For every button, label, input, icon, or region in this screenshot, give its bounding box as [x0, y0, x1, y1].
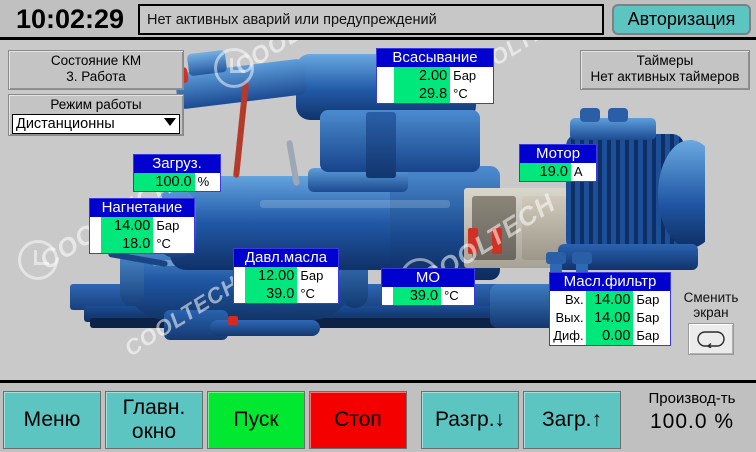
operating-mode-value: Дистанционны: [16, 116, 115, 132]
load-button[interactable]: Загр.↑: [523, 391, 621, 449]
timers-panel: Таймеры Нет активных таймеров: [580, 50, 750, 90]
tag-oil-filter-value-0: 14.00: [586, 291, 634, 309]
tag-suction-unit-0: Бар: [450, 67, 493, 85]
tag-suction-unit-1: °C: [450, 85, 493, 103]
loop-cycle-icon: [696, 330, 726, 348]
table-row: 100.0 %: [134, 173, 220, 191]
clock-display: 10:02:29: [6, 3, 134, 35]
tag-motor: Мотор 19.0 A: [519, 144, 597, 182]
tag-oil-pressure-unit-0: Бар: [297, 267, 338, 285]
start-button[interactable]: Пуск: [207, 391, 305, 449]
tag-load-value-0: 100.0: [134, 173, 195, 191]
tag-motor-unit-0: A: [571, 163, 596, 181]
table-row: 2.00 Бар: [377, 67, 493, 85]
hmi-screen: 10:02:29 Нет активных аварий или предупр…: [0, 0, 756, 452]
bottom-toolbar: Меню Главн. окно Пуск Стоп Разгр.↓ Загр.…: [0, 380, 756, 452]
stop-button[interactable]: Стоп: [309, 391, 407, 449]
tag-discharge-unit-0: Бар: [153, 217, 194, 235]
table-row: 14.00 Бар: [90, 217, 194, 235]
alarm-status-bar[interactable]: Нет активных аварий или предупреждений: [138, 4, 604, 35]
main-window-button[interactable]: Главн. окно: [105, 391, 203, 449]
tag-suction-value-1: 29.8: [394, 85, 450, 103]
change-screen-control: Сменить экран: [668, 290, 754, 376]
tag-mo-value-0: 39.0: [393, 287, 441, 305]
tag-oil-filter-unit-2: Бар: [633, 327, 670, 345]
tag-oil-pressure-value-0: 12.00: [245, 267, 297, 285]
tag-mo-unit-0: °C: [441, 287, 474, 305]
timers-title: Таймеры: [581, 51, 749, 69]
change-screen-label-line2: экран: [668, 305, 754, 320]
main-mimic-area: COOLTECH COOLTECH COOLTECH COOLTECH COOL…: [0, 40, 756, 380]
tag-mo-title: МО: [382, 269, 474, 287]
tag-discharge-value-1: 18.0: [101, 235, 153, 253]
table-row: Вх. 14.00 Бар: [550, 291, 670, 309]
authorization-button[interactable]: Авторизация: [612, 4, 751, 35]
tag-oil-filter-label-1: Вых.: [550, 309, 586, 327]
tag-suction-title: Всасывание: [377, 49, 493, 67]
tag-oil-filter: Масл.фильтр Вх. 14.00 Бар Вых. 14.00 Бар…: [549, 272, 671, 346]
tag-oil-pressure-title: Давл.масла: [234, 249, 338, 267]
tag-discharge-title: Нагнетание: [90, 199, 194, 217]
table-row: 29.8 °C: [377, 85, 493, 103]
tag-discharge-unit-1: °C: [153, 235, 194, 253]
compressor-state-panel: Состояние КМ 3. Работа: [8, 50, 184, 90]
tag-oil-filter-value-2: 0.00: [586, 327, 634, 345]
tag-oil-pressure: Давл.масла 12.00 Бар 39.0 °C: [233, 248, 339, 304]
compressor-state-title: Состояние КМ: [9, 51, 183, 69]
tag-oil-filter-title: Масл.фильтр: [550, 273, 670, 291]
operating-mode-select[interactable]: Дистанционны: [12, 114, 180, 134]
menu-button[interactable]: Меню: [3, 391, 101, 449]
capacity-value: 100.0 %: [628, 409, 756, 435]
compressor-state-value: 3. Работа: [9, 69, 183, 85]
unload-button[interactable]: Разгр.↓: [421, 391, 519, 449]
change-screen-label-line1: Сменить: [668, 290, 754, 305]
tag-oil-filter-label-2: Диф.: [550, 327, 586, 345]
tag-oil-filter-value-1: 14.00: [586, 309, 634, 327]
change-screen-button[interactable]: [688, 323, 734, 355]
tag-oil-pressure-unit-1: °C: [297, 285, 338, 303]
tag-oil-filter-unit-1: Бар: [633, 309, 670, 327]
table-row: Вых. 14.00 Бар: [550, 309, 670, 327]
tag-oil-filter-label-0: Вх.: [550, 291, 586, 309]
table-row: 19.0 A: [520, 163, 596, 181]
tag-load: Загруз. 100.0 %: [133, 154, 221, 192]
tag-load-unit-0: %: [195, 173, 220, 191]
tag-suction-value-0: 2.00: [394, 67, 450, 85]
table-row: 18.0 °C: [90, 235, 194, 253]
tag-discharge: Нагнетание 14.00 Бар 18.0 °C: [89, 198, 195, 254]
tag-motor-title: Мотор: [520, 145, 596, 163]
capacity-title: Производ-ть: [628, 388, 756, 409]
tag-mo: МО 39.0 °C: [381, 268, 475, 306]
tag-motor-value-0: 19.0: [520, 163, 571, 181]
tag-suction: Всасывание 2.00 Бар 29.8 °C: [376, 48, 494, 104]
table-row: Диф. 0.00 Бар: [550, 327, 670, 345]
timers-value: Нет активных таймеров: [581, 69, 749, 85]
tag-load-title: Загруз.: [134, 155, 220, 173]
table-row: 39.0 °C: [234, 285, 338, 303]
tag-discharge-value-0: 14.00: [101, 217, 153, 235]
table-row: 12.00 Бар: [234, 267, 338, 285]
cooltech-ring-icon: [18, 240, 58, 280]
table-row: 39.0 °C: [382, 287, 474, 305]
capacity-panel: Производ-ть 100.0 %: [628, 388, 756, 452]
top-bar: 10:02:29 Нет активных аварий или предупр…: [0, 0, 756, 40]
operating-mode-panel: Режим работы Дистанционны: [8, 94, 184, 136]
operating-mode-title: Режим работы: [9, 95, 183, 113]
tag-oil-filter-unit-0: Бар: [633, 291, 670, 309]
tag-oil-pressure-value-1: 39.0: [245, 285, 297, 303]
chevron-down-icon[interactable]: [164, 118, 176, 126]
